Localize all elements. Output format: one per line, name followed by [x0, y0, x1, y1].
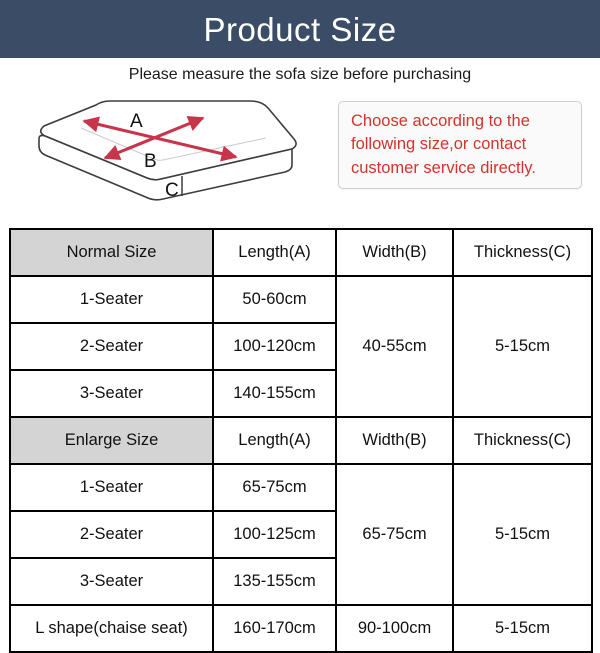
- label-b: B: [144, 151, 157, 172]
- table-row-section-header-enlarge: Enlarge Size Length(A) Width(B) Thicknes…: [10, 417, 592, 464]
- section-title-normal: Normal Size: [10, 229, 213, 276]
- page-title: Product Size: [203, 13, 396, 46]
- sofa-cushion-diagram: A B C: [18, 95, 318, 213]
- row-name: 1-Seater: [10, 464, 213, 511]
- callout-note: Choose according to the following size,o…: [338, 101, 582, 189]
- row-length: 100-125cm: [213, 511, 336, 558]
- subtitle-text: Please measure the sofa size before purc…: [0, 66, 600, 84]
- table-row-l-shape: L shape(chaise seat) 160-170cm 90-100cm …: [10, 605, 592, 652]
- row-length-l-shape: 160-170cm: [213, 605, 336, 652]
- header-banner: Product Size: [0, 0, 600, 58]
- column-header-thickness-enlarge: Thickness(C): [453, 417, 592, 464]
- row-length: 100-120cm: [213, 323, 336, 370]
- row-length: 65-75cm: [213, 464, 336, 511]
- table-row: 1-Seater 65-75cm 65-75cm 5-15cm: [10, 464, 592, 511]
- row-length: 140-155cm: [213, 370, 336, 417]
- size-table: Normal Size Length(A) Width(B) Thickness…: [9, 228, 593, 653]
- table-row: 1-Seater 50-60cm 40-55cm 5-15cm: [10, 276, 592, 323]
- row-name: 2-Seater: [10, 511, 213, 558]
- column-header-length-normal: Length(A): [213, 229, 336, 276]
- row-name: 2-Seater: [10, 323, 213, 370]
- column-header-width-enlarge: Width(B): [336, 417, 453, 464]
- row-name: 3-Seater: [10, 370, 213, 417]
- column-header-length-enlarge: Length(A): [213, 417, 336, 464]
- table-row-section-header-normal: Normal Size Length(A) Width(B) Thickness…: [10, 229, 592, 276]
- row-name: 3-Seater: [10, 558, 213, 605]
- section-thickness-enlarge: 5-15cm: [453, 464, 592, 605]
- row-width-l-shape: 90-100cm: [336, 605, 453, 652]
- callout-text: Choose according to the following size,o…: [351, 110, 571, 180]
- row-length: 50-60cm: [213, 276, 336, 323]
- section-width-enlarge: 65-75cm: [336, 464, 453, 605]
- cushion-illustration-svg: A B C: [18, 95, 318, 213]
- row-thickness-l-shape: 5-15cm: [453, 605, 592, 652]
- section-thickness-normal: 5-15cm: [453, 276, 592, 417]
- label-a: A: [130, 111, 143, 132]
- column-header-width-normal: Width(B): [336, 229, 453, 276]
- label-c: C: [165, 180, 179, 201]
- row-name-l-shape: L shape(chaise seat): [10, 605, 213, 652]
- section-width-normal: 40-55cm: [336, 276, 453, 417]
- column-header-thickness-normal: Thickness(C): [453, 229, 592, 276]
- row-name: 1-Seater: [10, 276, 213, 323]
- row-length: 135-155cm: [213, 558, 336, 605]
- section-title-enlarge: Enlarge Size: [10, 417, 213, 464]
